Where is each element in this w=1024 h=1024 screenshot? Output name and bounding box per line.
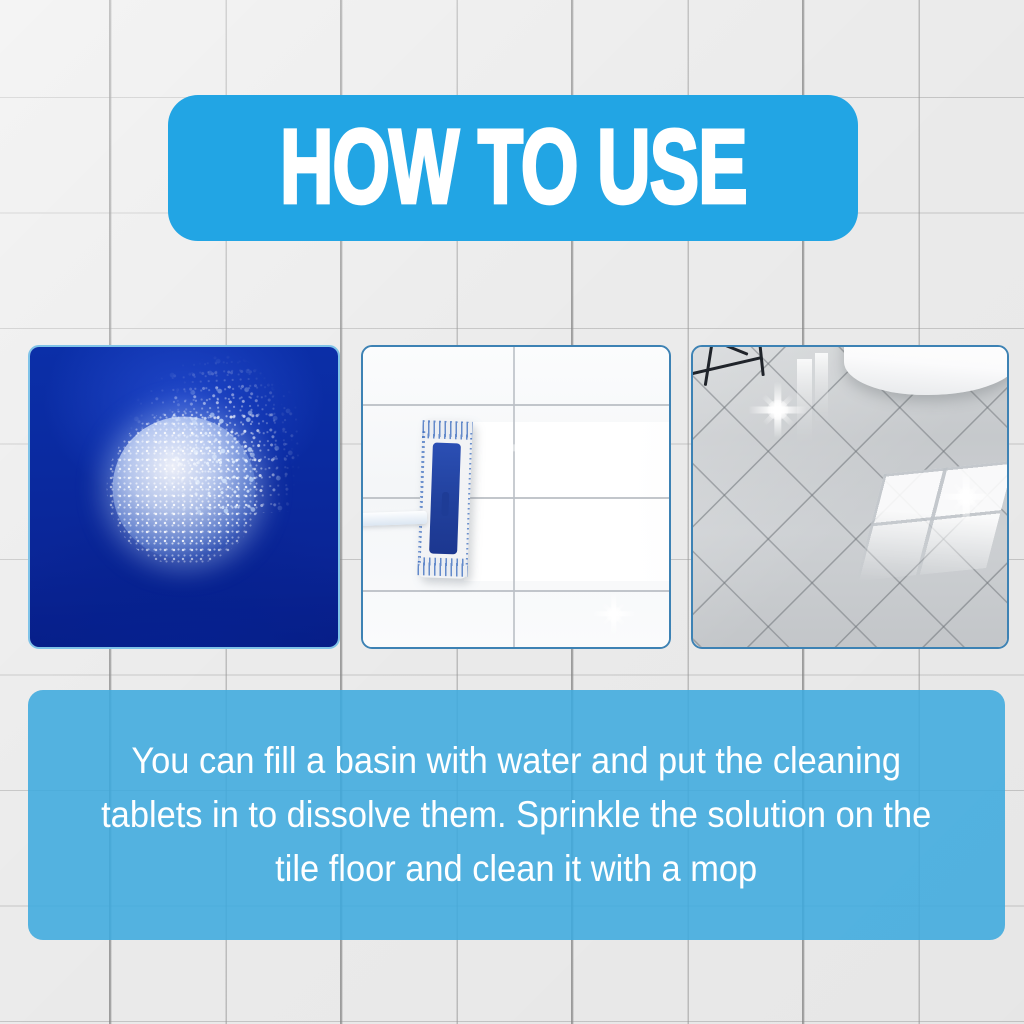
page-title: HOW TO USE [280, 120, 747, 217]
cleaned-streak [464, 422, 671, 581]
table-leg [704, 345, 714, 386]
marble-grout-line [363, 404, 669, 406]
floor-reflection [797, 359, 813, 455]
tablet-fizz-icon [107, 411, 262, 566]
flat-mop-pad [417, 418, 473, 579]
table-leg [758, 345, 765, 377]
floor-reflection [815, 353, 828, 434]
table-leg [693, 345, 748, 356]
title-banner: HOW TO USE [168, 95, 858, 241]
caption-text: You can fill a basin with water and put … [89, 734, 943, 896]
table-leg [691, 356, 761, 376]
caption-panel: You can fill a basin with water and put … [28, 690, 1005, 940]
step-photo-shiny-floor[interactable] [691, 345, 1009, 649]
table-legs [691, 345, 812, 407]
mop-fringe-icon [422, 421, 473, 440]
mop-fringe-icon [417, 557, 468, 576]
step-photo-mop-on-tile[interactable] [361, 345, 671, 649]
marble-grout-line [513, 347, 515, 647]
mop-swivel-joint [441, 492, 449, 517]
marble-grout-line [363, 590, 669, 592]
effervescent-tablet [113, 417, 256, 560]
mop-handle [361, 511, 427, 526]
step-photo-dissolving-tablet[interactable] [28, 345, 340, 649]
photo-gallery [0, 345, 1024, 647]
mop-blue-plate [429, 442, 461, 554]
marble-grout-line [363, 497, 669, 499]
